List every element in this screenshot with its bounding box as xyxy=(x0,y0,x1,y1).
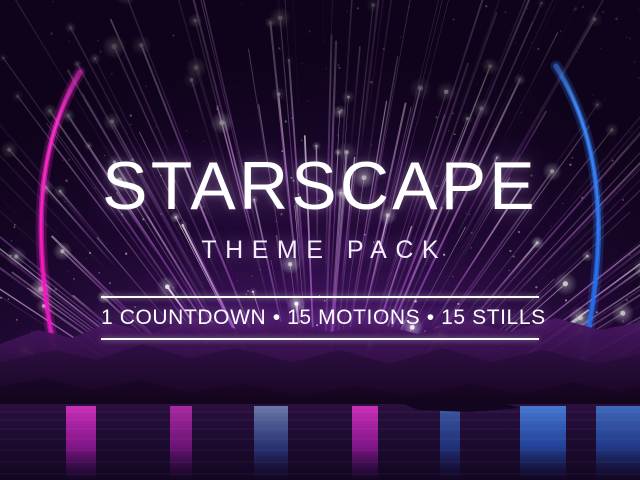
landscape-foreground xyxy=(0,300,640,480)
poster-canvas: STARSCAPE THEME PACK 1 COUNTDOWN • 15 MO… xyxy=(0,0,640,480)
